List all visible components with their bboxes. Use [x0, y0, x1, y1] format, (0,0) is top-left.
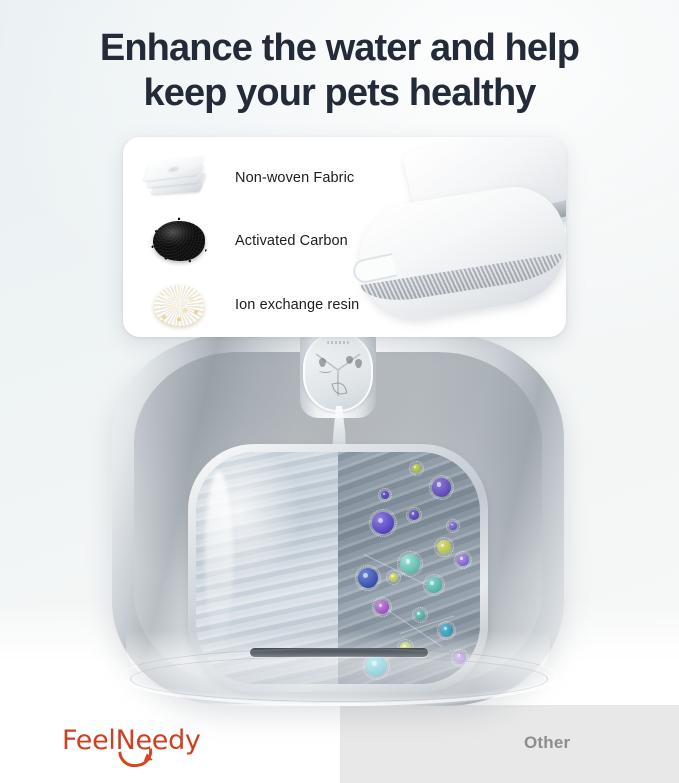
- ingredient-row: Activated Carbon: [145, 219, 348, 263]
- germ: [375, 600, 389, 614]
- pet-water-fountain: [104, 330, 574, 715]
- germ: [415, 610, 425, 620]
- germ: [449, 522, 457, 530]
- germ: [381, 491, 389, 499]
- ingredient-label: Activated Carbon: [235, 233, 348, 249]
- ingredients-card: Non-woven Fabric Activated Carbon Ion ex…: [123, 137, 566, 337]
- headline-line-2: keep your pets healthy: [0, 71, 679, 116]
- water-drop-ripple-icon: [319, 358, 332, 373]
- germ: [409, 510, 419, 520]
- fabric-sheets-icon: [145, 156, 217, 200]
- ingredient-label: Non-woven Fabric: [235, 170, 354, 186]
- other-comparison-panel: [340, 705, 679, 783]
- germ: [426, 577, 442, 593]
- promo-image-stage: Enhance the water and help keep your pet…: [0, 0, 679, 783]
- germ: [358, 568, 378, 588]
- germ: [372, 512, 394, 534]
- leaf-icon: [333, 382, 346, 395]
- germ: [400, 554, 420, 574]
- ingredient-label: Ion exchange resin: [235, 297, 359, 313]
- spout-divider-lines: [303, 332, 373, 412]
- fountain-base-ring-inner: [130, 656, 548, 702]
- ingredient-row: Non-woven Fabric: [145, 156, 354, 200]
- germ: [457, 554, 469, 566]
- ingredient-row: Ion exchange resin: [145, 283, 359, 327]
- page-title: Enhance the water and help keep your pet…: [0, 26, 679, 116]
- germ: [389, 573, 398, 582]
- germ: [432, 478, 451, 497]
- other-label: Other: [524, 733, 570, 753]
- headline-line-1: Enhance the water and help: [100, 27, 579, 69]
- resin-beads-icon: [145, 283, 217, 327]
- filter-pad-lower: [351, 179, 566, 326]
- carbon-granules-icon: [145, 219, 217, 263]
- double-droplet-icon: [346, 356, 362, 368]
- germ: [437, 540, 451, 554]
- filter-pad-photo: [355, 137, 566, 337]
- germ: [412, 464, 421, 473]
- fountain-spout-head: [303, 332, 373, 412]
